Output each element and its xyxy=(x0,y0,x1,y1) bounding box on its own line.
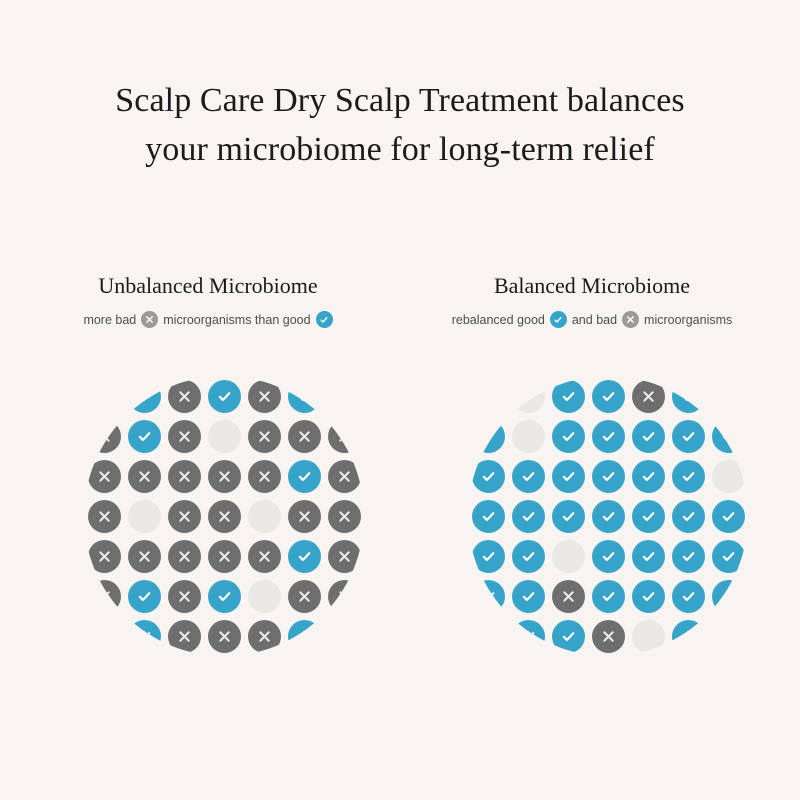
panel-unbalanced: Unbalanced Microbiome more bad microorga… xyxy=(28,272,388,328)
bad-microorganism-dot xyxy=(168,500,201,533)
good-microorganism-dot xyxy=(472,540,505,573)
page-title: Scalp Care Dry Scalp Treatment balances … xyxy=(0,76,800,174)
bad-microorganism-dot xyxy=(168,460,201,493)
legend-unbalanced: more bad microorganisms than good xyxy=(28,311,388,328)
good-microorganism-dot xyxy=(672,500,705,533)
bad-microorganism-dot xyxy=(288,580,321,613)
bad-microorganism-dot xyxy=(632,380,665,413)
good-microorganism-dot xyxy=(472,460,505,493)
good-microorganism-dot xyxy=(632,420,665,453)
check-icon xyxy=(550,311,567,328)
good-microorganism-dot xyxy=(592,500,625,533)
good-microorganism-dot xyxy=(472,500,505,533)
bad-microorganism-dot xyxy=(88,580,121,613)
good-microorganism-dot xyxy=(128,420,161,453)
bad-microorganism-dot xyxy=(208,500,241,533)
good-microorganism-dot xyxy=(128,380,161,413)
bad-microorganism-dot xyxy=(248,620,281,653)
bad-microorganism-dot xyxy=(168,580,201,613)
good-microorganism-dot xyxy=(712,500,745,533)
legend-text-middle: and bad xyxy=(572,313,617,327)
bad-microorganism-dot xyxy=(208,460,241,493)
good-microorganism-dot xyxy=(512,580,545,613)
bad-microorganism-dot xyxy=(288,420,321,453)
bad-microorganism-dot xyxy=(248,380,281,413)
title-line-2: your microbiome for long-term relief xyxy=(0,125,800,174)
bad-microorganism-dot xyxy=(552,580,585,613)
dot-field-unbalanced xyxy=(84,376,364,656)
good-microorganism-dot xyxy=(128,580,161,613)
good-microorganism-dot xyxy=(672,580,705,613)
legend-text-before: rebalanced good xyxy=(452,313,545,327)
title-line-1: Scalp Care Dry Scalp Treatment balances xyxy=(0,76,800,125)
bad-microorganism-dot xyxy=(328,420,361,453)
good-microorganism-dot xyxy=(208,380,241,413)
good-microorganism-dot xyxy=(592,540,625,573)
legend-balanced: rebalanced good and bad microorganisms xyxy=(412,311,772,328)
empty-microorganism-dot xyxy=(208,420,241,453)
empty-microorganism-dot xyxy=(248,500,281,533)
bad-microorganism-dot xyxy=(288,500,321,533)
good-microorganism-dot xyxy=(712,540,745,573)
good-microorganism-dot xyxy=(288,380,321,413)
legend-text-middle: microorganisms than good xyxy=(163,313,310,327)
good-microorganism-dot xyxy=(288,460,321,493)
bad-microorganism-dot xyxy=(208,620,241,653)
bad-microorganism-dot xyxy=(248,460,281,493)
panel-balanced: Balanced Microbiome rebalanced good and … xyxy=(412,272,772,328)
bad-microorganism-dot xyxy=(88,540,121,573)
good-microorganism-dot xyxy=(128,620,161,653)
empty-microorganism-dot xyxy=(248,580,281,613)
empty-microorganism-dot xyxy=(128,500,161,533)
good-microorganism-dot xyxy=(632,460,665,493)
bad-microorganism-dot xyxy=(328,500,361,533)
dot-grid-unbalanced xyxy=(84,376,364,656)
bad-microorganism-dot xyxy=(328,460,361,493)
bad-microorganism-dot xyxy=(88,500,121,533)
bad-microorganism-dot xyxy=(248,420,281,453)
bad-microorganism-dot xyxy=(328,580,361,613)
good-microorganism-dot xyxy=(288,620,321,653)
empty-microorganism-dot xyxy=(632,620,665,653)
bad-microorganism-dot xyxy=(88,420,121,453)
bad-microorganism-dot xyxy=(592,620,625,653)
bad-microorganism-dot xyxy=(328,540,361,573)
x-icon xyxy=(141,311,158,328)
good-microorganism-dot xyxy=(512,500,545,533)
bad-microorganism-dot xyxy=(168,620,201,653)
good-microorganism-dot xyxy=(592,460,625,493)
empty-microorganism-dot xyxy=(552,540,585,573)
good-microorganism-dot xyxy=(472,420,505,453)
good-microorganism-dot xyxy=(552,460,585,493)
good-microorganism-dot xyxy=(592,580,625,613)
good-microorganism-dot xyxy=(632,580,665,613)
good-microorganism-dot xyxy=(672,540,705,573)
dot-grid-balanced xyxy=(468,376,748,656)
good-microorganism-dot xyxy=(552,500,585,533)
good-microorganism-dot xyxy=(672,420,705,453)
good-microorganism-dot xyxy=(208,580,241,613)
good-microorganism-dot xyxy=(472,580,505,613)
empty-microorganism-dot xyxy=(512,380,545,413)
bad-microorganism-dot xyxy=(88,460,121,493)
empty-microorganism-dot xyxy=(712,460,745,493)
good-microorganism-dot xyxy=(672,380,705,413)
x-icon xyxy=(622,311,639,328)
good-microorganism-dot xyxy=(672,620,705,653)
good-microorganism-dot xyxy=(712,580,745,613)
good-microorganism-dot xyxy=(672,460,705,493)
panel-title-balanced: Balanced Microbiome xyxy=(412,272,772,300)
good-microorganism-dot xyxy=(592,420,625,453)
good-microorganism-dot xyxy=(512,460,545,493)
good-microorganism-dot xyxy=(632,540,665,573)
good-microorganism-dot xyxy=(512,620,545,653)
good-microorganism-dot xyxy=(552,620,585,653)
bad-microorganism-dot xyxy=(248,540,281,573)
good-microorganism-dot xyxy=(592,380,625,413)
good-microorganism-dot xyxy=(552,380,585,413)
bad-microorganism-dot xyxy=(128,460,161,493)
bad-microorganism-dot xyxy=(208,540,241,573)
panel-title-unbalanced: Unbalanced Microbiome xyxy=(28,272,388,300)
check-icon xyxy=(316,311,333,328)
empty-microorganism-dot xyxy=(512,420,545,453)
bad-microorganism-dot xyxy=(128,540,161,573)
bad-microorganism-dot xyxy=(168,540,201,573)
legend-text-after: microorganisms xyxy=(644,313,732,327)
good-microorganism-dot xyxy=(288,540,321,573)
bad-microorganism-dot xyxy=(168,420,201,453)
good-microorganism-dot xyxy=(632,500,665,533)
dot-field-balanced xyxy=(468,376,748,656)
legend-text-before: more bad xyxy=(83,313,136,327)
good-microorganism-dot xyxy=(712,420,745,453)
good-microorganism-dot xyxy=(552,420,585,453)
bad-microorganism-dot xyxy=(168,380,201,413)
good-microorganism-dot xyxy=(512,540,545,573)
